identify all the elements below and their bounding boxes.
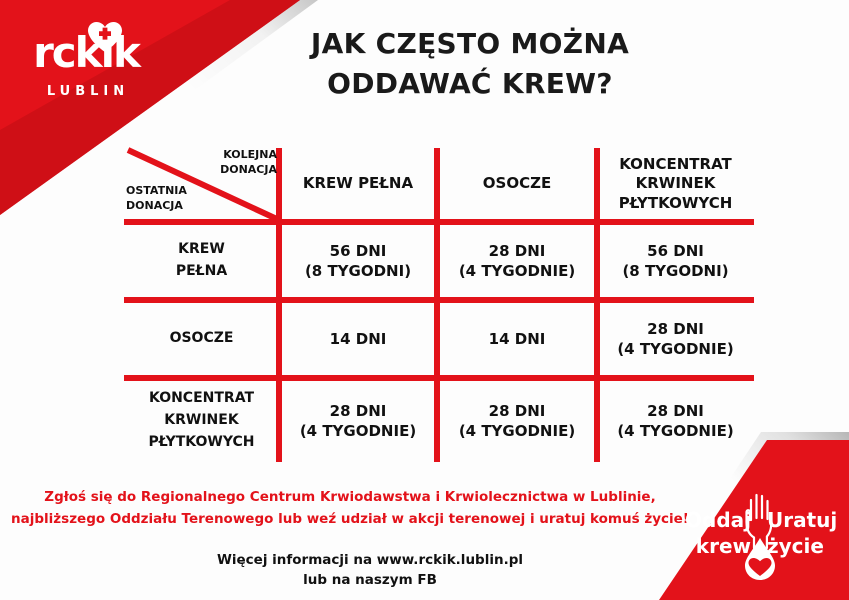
cta-line2: najbliższego Oddziału Terenowego lub weź… xyxy=(0,508,700,530)
row-header-koncentrat: KONCENTRAT KRWINEK PŁYTKOWYCH xyxy=(124,378,279,464)
cell-days: 28 DNI xyxy=(617,319,733,339)
last-donation-label-line2: DONACJA xyxy=(126,199,187,214)
cta-line1: Zgłoś się do Regionalnego Centrum Krwiod… xyxy=(0,486,700,508)
column-header-koncentrat: KONCENTRAT KRWINEK PŁYTKOWYCH xyxy=(597,146,754,222)
next-donation-label: KOLEJNA DONACJA xyxy=(220,148,277,178)
column-header-krew-pelna: KREW PEŁNA xyxy=(279,146,437,222)
logo-mark: rckik xyxy=(26,24,146,82)
table-cell-r1c1: 56 DNI (8 TYGODNI) xyxy=(279,222,437,300)
logo-wordmark: rckik xyxy=(26,24,146,82)
column-header-label-line1: KONCENTRAT xyxy=(619,155,733,175)
column-header-label-line3: PŁYTKOWYCH xyxy=(619,194,733,214)
last-donation-label: OSTATNIA DONACJA xyxy=(126,184,187,214)
cell-weeks: (8 TYGODNI) xyxy=(622,261,728,281)
column-header-osocze: OSOCZE xyxy=(437,146,597,222)
row-header-label-line2: PEŁNA xyxy=(176,261,227,283)
next-donation-label-line2: DONACJA xyxy=(220,163,277,178)
page-title-line1: JAK CZĘSTO MOŻNA xyxy=(255,24,685,64)
last-donation-label-line1: OSTATNIA xyxy=(126,184,187,199)
row-header-label-line3: PŁYTKOWYCH xyxy=(149,432,255,454)
more-info-line1: Więcej informacji na www.rckik.lublin.pl xyxy=(110,550,630,570)
rckik-logo: rckik LUBLIN xyxy=(26,24,146,99)
logo-subtitle: LUBLIN xyxy=(26,84,146,99)
table-cell-r2c3: 28 DNI (4 TYGODNIE) xyxy=(597,300,754,378)
table-cell-r1c2: 28 DNI (4 TYGODNIE) xyxy=(437,222,597,300)
cell-days: 28 DNI xyxy=(300,401,416,421)
cell-weeks: (4 TYGODNIE) xyxy=(459,421,575,441)
heart-with-cross-icon xyxy=(88,22,122,53)
cell-days: 56 DNI xyxy=(305,241,411,261)
table-cell-r3c2: 28 DNI (4 TYGODNIE) xyxy=(437,378,597,464)
row-header-label: OSOCZE xyxy=(170,328,234,350)
table-cell-r2c2: 14 DNI xyxy=(437,300,597,378)
call-to-action-text: Zgłoś się do Regionalnego Centrum Krwiod… xyxy=(0,486,700,531)
page-title-line2: ODDAWAĆ KREW? xyxy=(255,64,685,104)
cell-weeks: (4 TYGODNIE) xyxy=(300,421,416,441)
axis-legend-corner: KOLEJNA DONACJA OSTATNIA DONACJA xyxy=(124,146,279,222)
page-title: JAK CZĘSTO MOŻNA ODDAWAĆ KREW? xyxy=(255,24,685,104)
row-header-osocze: OSOCZE xyxy=(124,300,279,378)
cell-weeks: (4 TYGODNIE) xyxy=(459,261,575,281)
table-cell-r3c3: 28 DNI (4 TYGODNIE) xyxy=(597,378,754,464)
cell-weeks: (4 TYGODNIE) xyxy=(617,421,733,441)
more-info-line2: lub na naszym FB xyxy=(110,570,630,590)
cell-weeks: (8 TYGODNI) xyxy=(305,261,411,281)
row-header-label-line1: KREW xyxy=(176,239,227,261)
cell-weeks: (4 TYGODNIE) xyxy=(617,339,733,359)
slogan-badge: Oddaj krew Uratuj życie xyxy=(675,486,845,582)
cell-days: 28 DNI xyxy=(617,401,733,421)
slogan-right-line1: Uratuj xyxy=(767,508,845,534)
more-info-text: Więcej informacji na www.rckik.lublin.pl… xyxy=(110,550,630,591)
row-header-label-line2: KRWINEK xyxy=(149,410,255,432)
cell-days: 28 DNI xyxy=(459,401,575,421)
table-cell-r1c3: 56 DNI (8 TYGODNI) xyxy=(597,222,754,300)
poster-canvas: rckik LUBLIN JAK CZĘSTO MOŻNA ODDAWAĆ KR… xyxy=(0,0,849,600)
donation-interval-table: KREW PEŁNA OSOCZE KONCENTRAT KRWINEK PŁY… xyxy=(124,146,754,464)
column-header-label: KREW PEŁNA xyxy=(303,174,413,194)
row-header-krew-pelna: KREW PEŁNA xyxy=(124,222,279,300)
slogan-left-line1: Oddaj xyxy=(679,508,751,534)
next-donation-label-line1: KOLEJNA xyxy=(220,148,277,163)
cell-days: 56 DNI xyxy=(622,241,728,261)
slogan-left-line2: krew xyxy=(679,534,751,560)
cell-days: 14 DNI xyxy=(489,329,546,349)
table-cell-r3c1: 28 DNI (4 TYGODNIE) xyxy=(279,378,437,464)
column-header-label: OSOCZE xyxy=(483,174,551,194)
column-header-label-line2: KRWINEK xyxy=(619,174,733,194)
row-header-label-line1: KONCENTRAT xyxy=(149,388,255,410)
cell-days: 28 DNI xyxy=(459,241,575,261)
table-cell-r2c1: 14 DNI xyxy=(279,300,437,378)
slogan-right-line2: życie xyxy=(767,534,845,560)
cell-days: 14 DNI xyxy=(330,329,387,349)
